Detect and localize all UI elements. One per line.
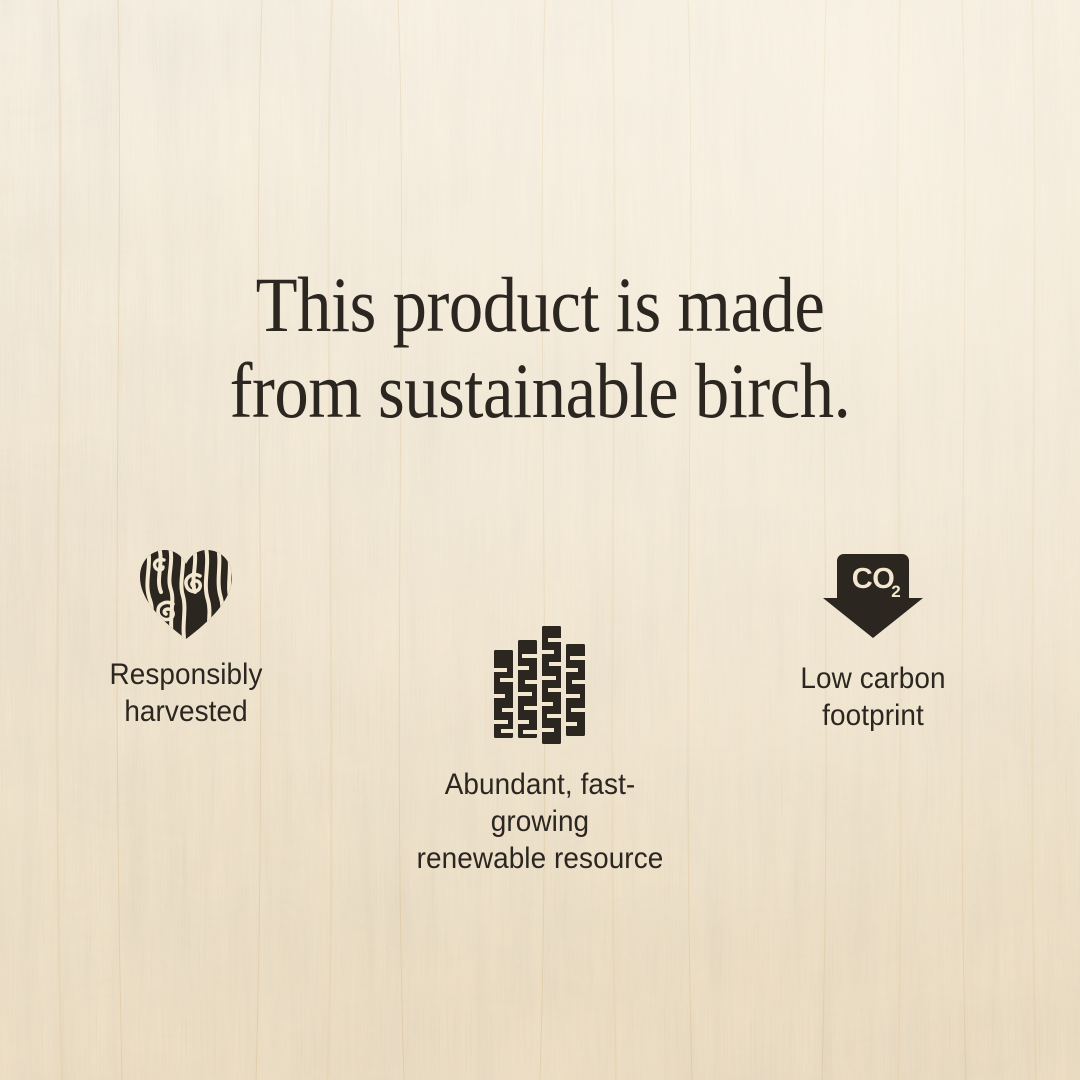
co2-subscript: 2 — [891, 582, 900, 601]
wood-grain-heart-icon — [138, 548, 234, 640]
co2-down-arrow-icon: CO 2 — [820, 552, 926, 640]
birch-wood-background — [0, 0, 1080, 1080]
feature-low-carbon-footprint: CO 2 Low carbon footprint — [723, 552, 1023, 734]
feature-caption-responsibly-harvested: Responsibly harvested — [47, 656, 326, 730]
page-headline: This product is made from sustainable bi… — [65, 262, 1015, 434]
feature-renewable-resource: Abundant, fast-growing renewable resourc… — [390, 624, 690, 877]
sustainable-birch-poster: This product is made from sustainable bi… — [0, 0, 1080, 1080]
co2-label: CO — [852, 563, 895, 595]
birch-trunks-icon — [492, 624, 588, 744]
feature-responsibly-harvested: Responsibly harvested — [36, 548, 336, 730]
feature-caption-renewable-resource: Abundant, fast-growing renewable resourc… — [401, 766, 680, 877]
feature-caption-low-carbon-footprint: Low carbon footprint — [734, 660, 1013, 734]
